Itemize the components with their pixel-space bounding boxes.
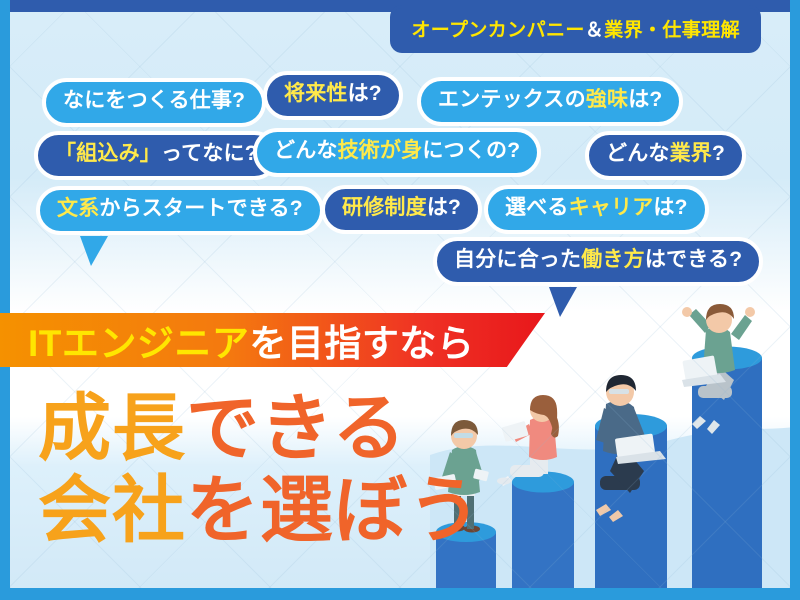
bubble-worklife-text-3: はできる? [645, 248, 742, 271]
headline-line-2: 会社を選ぼう [38, 470, 482, 552]
bubble-worklife-tail [549, 287, 577, 317]
bubble-industry: どんな業界? [585, 131, 746, 180]
bubble-worklife: 自分に合った働き方はできる? [433, 237, 763, 286]
ribbon-text-white: を目指すなら [249, 323, 474, 364]
question-bubble-group: なにをつくる仕事? 将来性は? エンテックスの強味は? 「組込み」ってなに? ど… [0, 58, 800, 308]
bubble-worklife-text-2: 働き方 [581, 248, 645, 271]
bubble-skills-text-2: 技術が身 [338, 139, 423, 162]
bubble-future-text-2: は? [348, 82, 382, 105]
bubble-embedded-text-2: ってなに? [161, 142, 258, 165]
bar-2 [512, 472, 574, 600]
main-headline: 成長できる 会社を選ぼう [38, 388, 482, 552]
bubble-humanities-text-1: 文系 [57, 197, 99, 220]
bubble-entex-strength-text-1: エンテックスの [438, 88, 586, 111]
orange-ribbon: ITエンジニアを目指すなら [0, 313, 545, 367]
header-banner: オープンカンパニー＆業界・仕事理解 [393, 8, 758, 50]
headline-line-2-part-2: を選ぼう [186, 470, 482, 551]
bubble-industry-text-3: ? [712, 142, 725, 165]
bubble-skills: どんな技術が身につくの? [253, 128, 541, 177]
bubble-what-job: なにをつくる仕事? [42, 78, 266, 127]
bubble-entex-strength-text-3: は? [628, 88, 662, 111]
header-banner-text-2: 業界・仕事理解 [604, 20, 740, 41]
headline-line-1: 成長できる [38, 388, 482, 470]
bubble-career-text-3: は? [653, 196, 687, 219]
bubble-training-text-2: は? [427, 196, 461, 219]
bubble-training-text-1: 研修制度 [342, 196, 427, 219]
frame-bottom-bar [0, 588, 800, 600]
bubble-skills-text-1: どんな [274, 139, 338, 162]
headline-line-2-part-1: 会社 [38, 470, 186, 551]
headline-line-1-part-1: 成長 [38, 388, 186, 469]
headline-line-1-part-2: できる [186, 388, 407, 469]
bubble-training: 研修制度は? [321, 185, 482, 234]
bubble-what-job-text: なにをつくる仕事? [63, 89, 245, 112]
bubble-future: 将来性は? [263, 71, 403, 120]
bubble-embedded: 「組込み」ってなに? [34, 131, 279, 180]
bubble-humanities: 文系からスタートできる? [36, 186, 324, 235]
header-banner-text-1: オープンカンパニー [411, 20, 584, 41]
bubble-humanities-tail [80, 236, 108, 266]
bubble-entex-strength-text-2: 強味 [586, 88, 628, 111]
orange-ribbon-text: ITエンジニアを目指すなら [0, 313, 474, 367]
bubble-entex-strength: エンテックスの強味は? [417, 77, 683, 126]
bubble-future-text-1: 将来性 [284, 82, 348, 105]
poster-canvas: オープンカンパニー＆業界・仕事理解 なにをつくる仕事? 将来性は? エンテックス… [0, 0, 800, 600]
bubble-industry-text-2: 業界 [670, 142, 712, 165]
bubble-career-text-2: キャリア [569, 196, 654, 219]
bubble-humanities-text-2: からスタートできる? [99, 197, 302, 220]
bubble-career: 選べるキャリアは? [484, 185, 709, 234]
ribbon-text-yellow: ITエンジニア [28, 323, 249, 364]
bubble-career-text-1: 選べる [505, 196, 569, 219]
bubble-industry-text-1: どんな [606, 142, 670, 165]
header-banner-amp: ＆ [585, 20, 604, 41]
bubble-skills-text-3: につくの? [422, 139, 520, 162]
bubble-embedded-text-1: 「組込み」 [55, 142, 161, 165]
bubble-worklife-text-1: 自分に合った [454, 248, 581, 271]
